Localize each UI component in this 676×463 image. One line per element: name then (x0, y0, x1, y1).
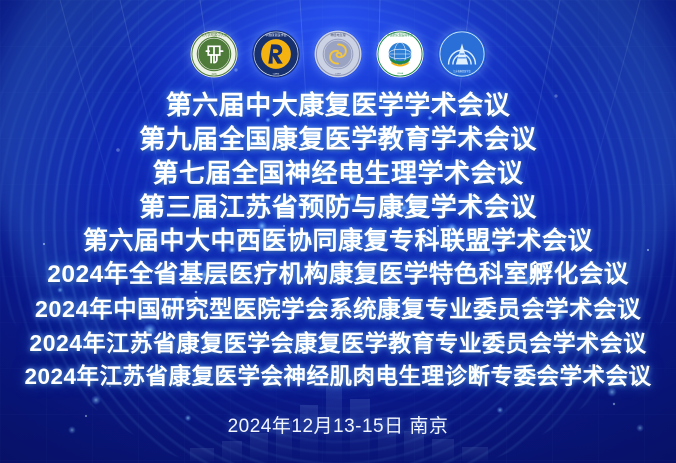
title-line-7: 2024年中国研究型医院学会系统康复专业委员会学术会议 (35, 292, 641, 326)
logo-jiangsu-rehab-society: 江苏省康复医学会 (438, 30, 486, 78)
logo-zhongda-hospital: 东南大学附属中大医院 1935 (190, 30, 238, 78)
title-line-5: 第六届中大中西医协同康复专科联盟学术会议 (83, 224, 593, 258)
svg-text:东南大学附属中大医院: 东南大学附属中大医院 (197, 32, 231, 37)
conference-banner: 东南大学附属中大医院 1935 中国康复医学会 CARM (0, 0, 676, 463)
title-line-8: 2024年江苏省康复医学会康复医学教育专业委员会学术会议 (29, 326, 646, 360)
title-line-2: 第九届全国康复医学教育学术会议 (139, 122, 537, 156)
organizer-logo-row: 东南大学附属中大医院 1935 中国康复医学会 CARM (0, 30, 676, 78)
svg-text:1935: 1935 (211, 73, 217, 76)
logo-research-hospital-association: 中国研究型医院学会 CRHA (376, 30, 424, 78)
title-line-1: 第六届中大康复医学学术会议 (166, 88, 511, 122)
svg-text:神经电生理: 神经电生理 (330, 32, 345, 37)
svg-text:中国康复医学会: 中国康复医学会 (265, 32, 286, 37)
logo-rehabilitation-association: 中国康复医学会 CARM (252, 30, 300, 78)
date-location-bar: 2024年12月13-15日 南京 (0, 411, 676, 438)
title-line-4: 第三届江苏省预防与康复学术会议 (139, 190, 537, 224)
svg-text:中国研究型医院学会: 中国研究型医院学会 (387, 32, 413, 37)
title-line-3: 第七届全国神经电生理学术会议 (152, 156, 523, 190)
svg-text:CSEP: CSEP (335, 74, 341, 76)
logo-neuroelectrophysiology: 神经电生理 CSEP (314, 30, 362, 78)
conference-title-list: 第六届中大康复医学学术会议 第九届全国康复医学教育学术会议 第七届全国神经电生理… (0, 88, 676, 394)
title-line-9: 2024年江苏省康复医学会神经肌肉电生理诊断专委会学术会议 (24, 360, 651, 394)
date-location-text: 2024年12月13-15日 南京 (228, 416, 449, 437)
title-line-6: 2024年全省基层医疗机构康复医学特色科室孵化会议 (47, 258, 629, 292)
